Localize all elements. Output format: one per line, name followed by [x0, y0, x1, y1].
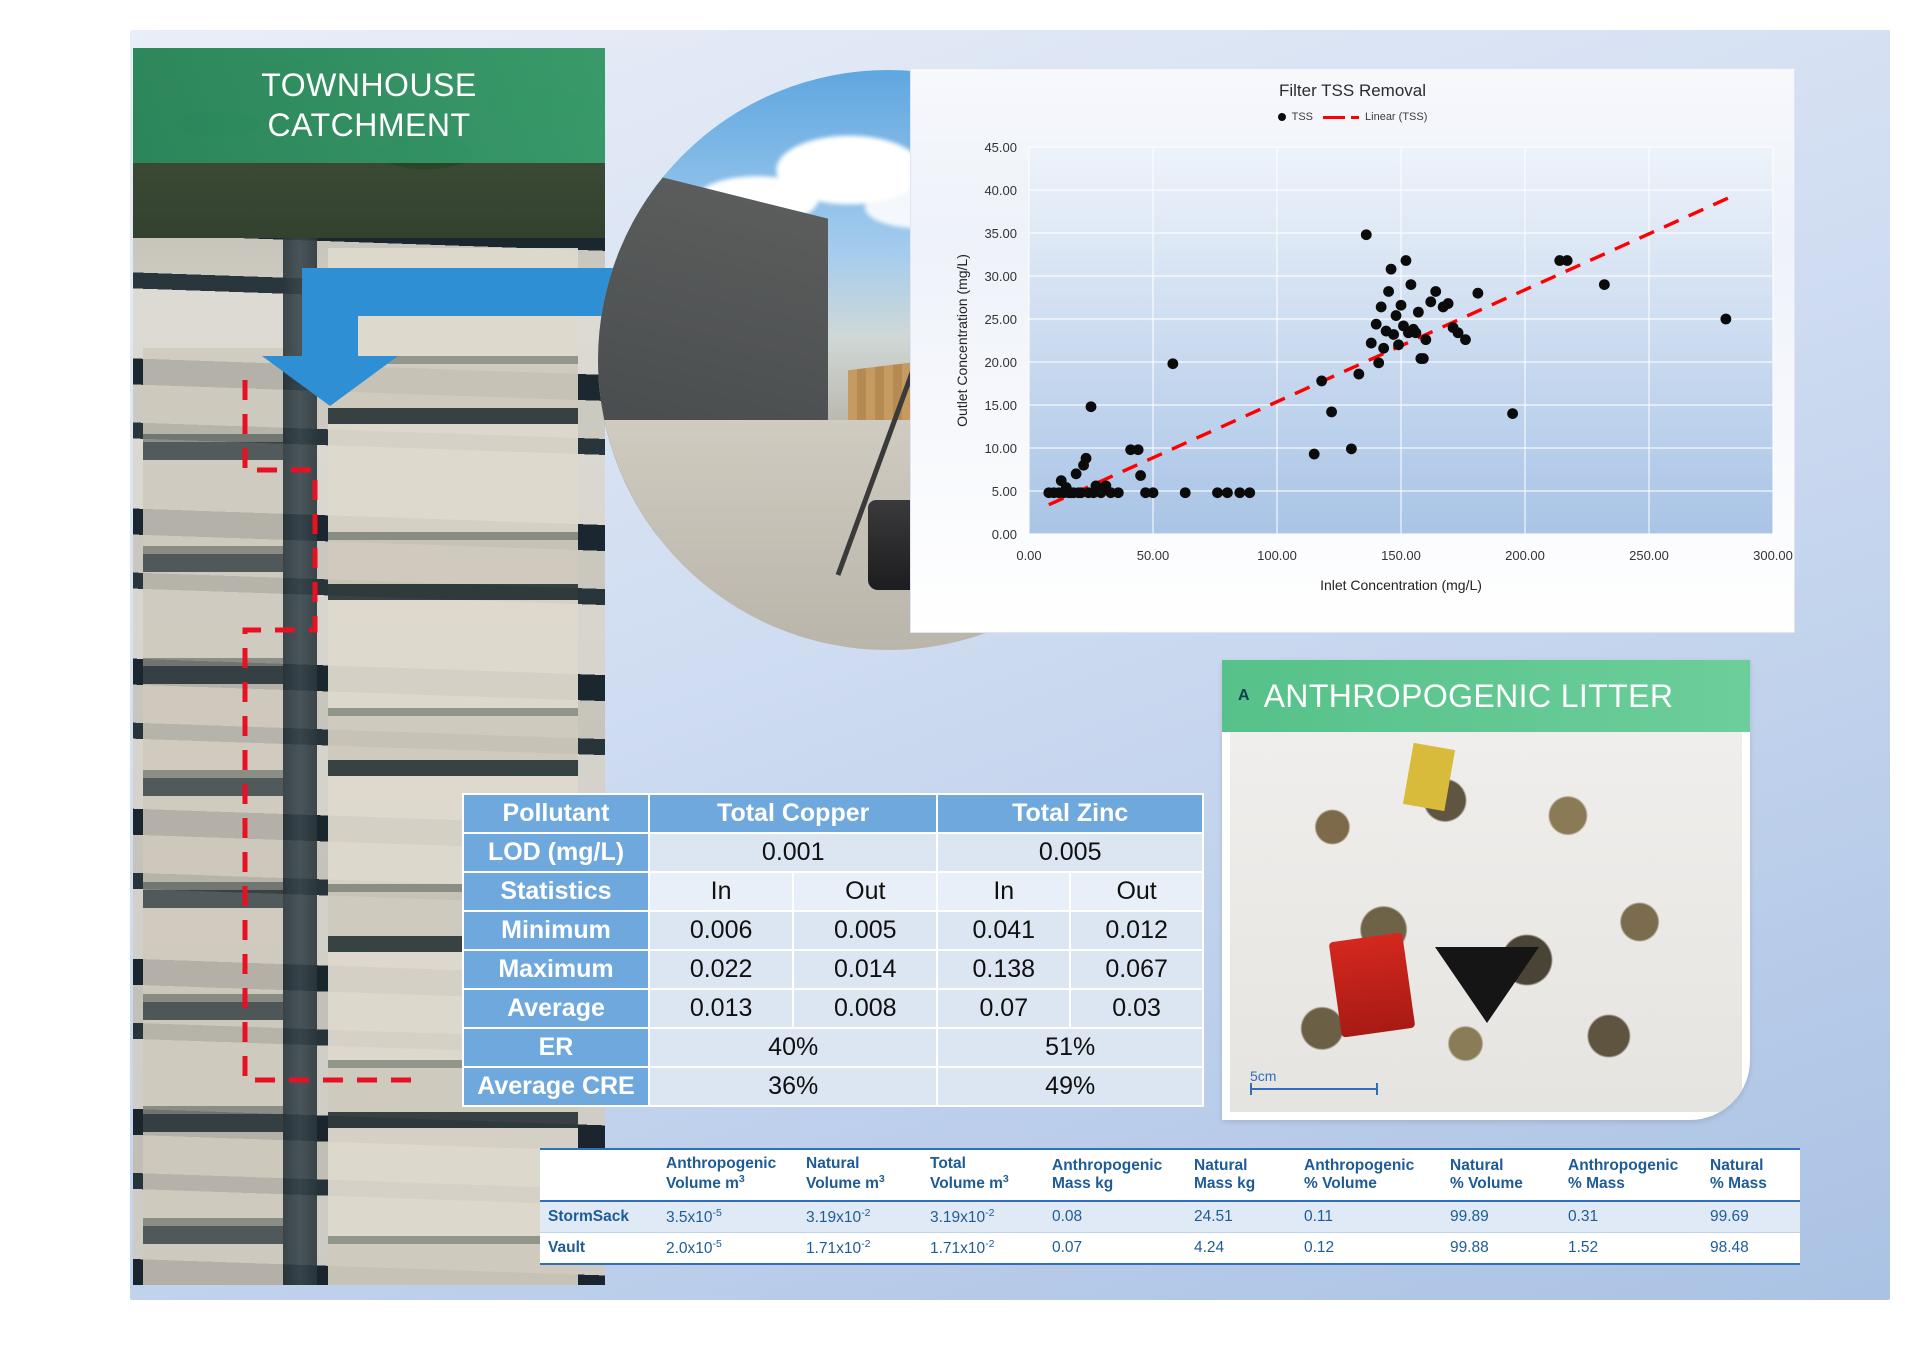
svg-text:300.00: 300.00: [1753, 548, 1793, 563]
maximum-cell-2: 0.138: [937, 950, 1070, 989]
lod-copper: 0.001: [649, 833, 937, 872]
mass-col-3-l1: Total: [930, 1155, 966, 1172]
mass-row-0-total-volume: 3.19x10-2: [922, 1201, 1044, 1233]
mass-col-1-l2: Volume m: [666, 1175, 739, 1192]
mass-col-3-l2: Volume m: [930, 1175, 1003, 1192]
svg-text:0.00: 0.00: [992, 527, 1017, 542]
mass-row-1-anth-pct-volume: 0.12: [1296, 1232, 1442, 1264]
er-label: ER: [463, 1028, 649, 1067]
mass-row-0-tv-exp: -2: [985, 1207, 994, 1219]
mass-row-0-anth-pct-mass: 0.31: [1560, 1201, 1702, 1233]
mass-col-1-sup: 3: [739, 1173, 745, 1185]
svg-text:0.00: 0.00: [1016, 548, 1041, 563]
poster-root: TOWNHOUSE CATCHMENT Filter TSS Removal T…: [0, 0, 1905, 1347]
mass-row-1-tv-base: 1.71x10: [930, 1240, 985, 1257]
maximum-cell-0: 0.022: [649, 950, 793, 989]
minimum-label: Minimum: [463, 911, 649, 950]
svg-text:40.00: 40.00: [984, 183, 1017, 198]
mass-col-5-l2: Mass kg: [1194, 1175, 1255, 1192]
average-cell-2: 0.07: [937, 989, 1070, 1028]
legend-label-tss: TSS: [1292, 111, 1313, 123]
mass-row-1-nat-mass: 4.24: [1186, 1232, 1296, 1264]
legend-dot-icon: [1278, 113, 1286, 121]
minimum-cell-2: 0.041: [937, 911, 1070, 950]
mass-row-1-nat-pct-volume: 99.88: [1442, 1232, 1560, 1264]
mass-col-1-l1: Anthropogenic: [666, 1155, 776, 1172]
mass-col-3-sup: 3: [1003, 1173, 1009, 1185]
statistics-cell-2: In: [937, 872, 1070, 911]
er-zinc: 51%: [937, 1028, 1203, 1067]
table-row-maximum: Maximum 0.022 0.014 0.138 0.067: [463, 950, 1203, 989]
svg-text:250.00: 250.00: [1629, 548, 1669, 563]
mass-col-6-l1: Anthropogenic: [1304, 1157, 1414, 1174]
mass-table-header-row: Anthropogenic Volume m3 Natural Volume m…: [540, 1149, 1800, 1201]
table-row: StormSack 3.5x10-5 3.19x10-2 3.19x10-2 0…: [540, 1201, 1800, 1233]
average-cell-3: 0.03: [1070, 989, 1203, 1028]
mass-row-1-av-base: 2.0x10: [666, 1240, 713, 1257]
scale-bar-label: 5cm: [1250, 1068, 1378, 1084]
mass-row-0-nv-base: 3.19x10: [806, 1209, 861, 1226]
svg-text:150.00: 150.00: [1381, 548, 1421, 563]
legend-dashed-line-icon-2: [1351, 116, 1359, 119]
mass-col-anthropogenic-pct-mass: Anthropogenic % Mass: [1560, 1149, 1702, 1201]
mass-col-natural-volume: Natural Volume m3: [798, 1149, 922, 1201]
mass-col-9-l2: % Mass: [1710, 1175, 1767, 1192]
statistics-label: Statistics: [463, 872, 649, 911]
cre-label: Average CRE: [463, 1067, 649, 1106]
mass-col-5-l1: Natural: [1194, 1157, 1247, 1174]
mass-col-7-l1: Natural: [1450, 1157, 1503, 1174]
average-cell-1: 0.008: [793, 989, 937, 1028]
pollutant-header-copper: Total Copper: [649, 794, 937, 833]
mass-row-0-av-base: 3.5x10: [666, 1209, 713, 1226]
mass-row-1-tv-exp: -2: [985, 1238, 994, 1250]
litter-can-item: [1329, 932, 1416, 1037]
mass-row-1-anth-pct-mass: 1.52: [1560, 1232, 1702, 1264]
average-label: Average: [463, 989, 649, 1028]
mass-row-1-total-volume: 1.71x10-2: [922, 1232, 1044, 1264]
mass-row-0-av-exp: -5: [713, 1207, 722, 1219]
scale-bar: 5cm: [1250, 1068, 1378, 1090]
mass-col-anthropogenic-pct-volume: Anthropogenic % Volume: [1296, 1149, 1442, 1201]
average-cell-0: 0.013: [649, 989, 793, 1028]
mass-row-0-anth-pct-volume: 0.11: [1296, 1201, 1442, 1233]
pollutant-header-label: Pollutant: [463, 794, 649, 833]
mass-row-0-nv-exp: -2: [861, 1207, 870, 1219]
mass-row-0-name: StormSack: [540, 1201, 658, 1233]
mass-col-8-l1: Anthropogenic: [1568, 1157, 1678, 1174]
maximum-cell-1: 0.014: [793, 950, 937, 989]
mass-row-1-nat-volume: 1.71x10-2: [798, 1232, 922, 1264]
svg-text:25.00: 25.00: [984, 312, 1017, 327]
mass-row-0-nat-pct-volume: 99.89: [1442, 1201, 1560, 1233]
mass-col-0: [540, 1149, 658, 1201]
mass-col-2-sup: 3: [879, 1173, 885, 1185]
mass-row-0-nat-mass: 24.51: [1186, 1201, 1296, 1233]
svg-text:Inlet Concentration (mg/L): Inlet Concentration (mg/L): [1320, 577, 1482, 593]
mass-row-1-anth-volume: 2.0x10-5: [658, 1232, 798, 1264]
svg-text:10.00: 10.00: [984, 441, 1017, 456]
mass-row-1-nv-exp: -2: [861, 1238, 870, 1250]
svg-text:30.00: 30.00: [984, 269, 1017, 284]
svg-text:50.00: 50.00: [1137, 548, 1170, 563]
mass-col-2-l1: Natural: [806, 1155, 859, 1172]
mass-row-0-anth-mass: 0.08: [1044, 1201, 1186, 1233]
pollutant-statistics-table: Pollutant Total Copper Total Zinc LOD (m…: [462, 793, 1204, 1107]
legend-label-linear-tss: Linear (TSS): [1365, 111, 1427, 123]
scale-bar-line: [1250, 1088, 1378, 1090]
legend-dashed-line-icon: [1323, 116, 1345, 119]
mass-row-0-tv-base: 3.19x10: [930, 1209, 985, 1226]
statistics-cell-3: Out: [1070, 872, 1203, 911]
chart-plot-area: 0.005.0010.0015.0020.0025.0030.0035.0040…: [911, 129, 1796, 634]
pollutant-header-zinc: Total Zinc: [937, 794, 1203, 833]
mass-row-0-nat-pct-mass: 99.69: [1702, 1201, 1800, 1233]
statistics-cell-1: Out: [793, 872, 937, 911]
mass-col-6-l2: % Volume: [1304, 1175, 1377, 1192]
legend-item-linear-tss: Linear (TSS): [1323, 111, 1427, 123]
table-row: Vault 2.0x10-5 1.71x10-2 1.71x10-2 0.07 …: [540, 1232, 1800, 1264]
table-row-lod: LOD (mg/L) 0.001 0.005: [463, 833, 1203, 872]
scatter-plot-svg: 0.005.0010.0015.0020.0025.0030.0035.0040…: [911, 129, 1796, 634]
litter-panel-title: ANTHROPOGENIC LITTER: [1264, 678, 1674, 715]
lod-label: LOD (mg/L): [463, 833, 649, 872]
table-row-statistics: Statistics In Out In Out: [463, 872, 1203, 911]
mass-row-0-anth-volume: 3.5x10-5: [658, 1201, 798, 1233]
table-row-minimum: Minimum 0.006 0.005 0.041 0.012: [463, 911, 1203, 950]
cre-copper: 36%: [649, 1067, 937, 1106]
mass-col-natural-mass: Natural Mass kg: [1186, 1149, 1296, 1201]
litter-title-band: A ANTHROPOGENIC LITTER: [1222, 660, 1750, 732]
svg-text:Outlet Concentration (mg/L): Outlet Concentration (mg/L): [954, 254, 970, 427]
statistics-cell-0: In: [649, 872, 793, 911]
anthropogenic-litter-card: 5cm A ANTHROPOGENIC LITTER: [1222, 660, 1750, 1120]
svg-text:20.00: 20.00: [984, 355, 1017, 370]
minimum-cell-3: 0.012: [1070, 911, 1203, 950]
chart-title: Filter TSS Removal: [911, 69, 1794, 101]
catchment-title-line2: CATCHMENT: [268, 106, 471, 145]
mass-col-4-l1: Anthropogenic: [1052, 1157, 1162, 1174]
table-row-average: Average 0.013 0.008 0.07 0.03: [463, 989, 1203, 1028]
mass-row-1-nat-pct-mass: 98.48: [1702, 1232, 1800, 1264]
catchment-title-band: TOWNHOUSE CATCHMENT: [133, 48, 605, 163]
mass-col-anthropogenic-volume: Anthropogenic Volume m3: [658, 1149, 798, 1201]
litter-tag-item: [1403, 743, 1455, 811]
mass-row-1-nv-base: 1.71x10: [806, 1240, 861, 1257]
mass-col-anthropogenic-mass: Anthropogenic Mass kg: [1044, 1149, 1186, 1201]
mass-col-8-l2: % Mass: [1568, 1175, 1625, 1192]
table-row-cre: Average CRE 36% 49%: [463, 1067, 1203, 1106]
chart-legend: TSS Linear (TSS): [911, 111, 1794, 123]
mass-col-total-volume: Total Volume m3: [922, 1149, 1044, 1201]
svg-text:5.00: 5.00: [992, 484, 1017, 499]
minimum-cell-0: 0.006: [649, 911, 793, 950]
litter-mass-volume-table: Anthropogenic Volume m3 Natural Volume m…: [540, 1148, 1800, 1265]
catchment-title-line1: TOWNHOUSE: [261, 66, 476, 105]
mass-col-natural-pct-mass: Natural % Mass: [1702, 1149, 1800, 1201]
svg-text:100.00: 100.00: [1257, 548, 1297, 563]
svg-text:45.00: 45.00: [984, 140, 1017, 155]
svg-text:35.00: 35.00: [984, 226, 1017, 241]
maximum-cell-3: 0.067: [1070, 950, 1203, 989]
tss-removal-chart: Filter TSS Removal TSS Linear (TSS) 0.00…: [910, 68, 1795, 633]
table-row-header: Pollutant Total Copper Total Zinc: [463, 794, 1203, 833]
svg-text:15.00: 15.00: [984, 398, 1017, 413]
mass-row-1-name: Vault: [540, 1232, 658, 1264]
mass-row-1-av-exp: -5: [713, 1238, 722, 1250]
legend-item-tss: TSS: [1278, 111, 1313, 123]
litter-panel-marker: A: [1238, 687, 1250, 705]
litter-plastic-item: [1435, 947, 1539, 1023]
mass-col-2-l2: Volume m: [806, 1175, 879, 1192]
cre-zinc: 49%: [937, 1067, 1203, 1106]
table-row-er: ER 40% 51%: [463, 1028, 1203, 1067]
maximum-label: Maximum: [463, 950, 649, 989]
mass-row-0-nat-volume: 3.19x10-2: [798, 1201, 922, 1233]
er-copper: 40%: [649, 1028, 937, 1067]
mass-col-natural-pct-volume: Natural % Volume: [1442, 1149, 1560, 1201]
mass-col-9-l1: Natural: [1710, 1157, 1763, 1174]
litter-photograph: 5cm: [1230, 732, 1742, 1112]
mass-col-4-l2: Mass kg: [1052, 1175, 1113, 1192]
mass-row-1-anth-mass: 0.07: [1044, 1232, 1186, 1264]
lod-zinc: 0.005: [937, 833, 1203, 872]
svg-text:200.00: 200.00: [1505, 548, 1545, 563]
mass-col-7-l2: % Volume: [1450, 1175, 1523, 1192]
minimum-cell-1: 0.005: [793, 911, 937, 950]
